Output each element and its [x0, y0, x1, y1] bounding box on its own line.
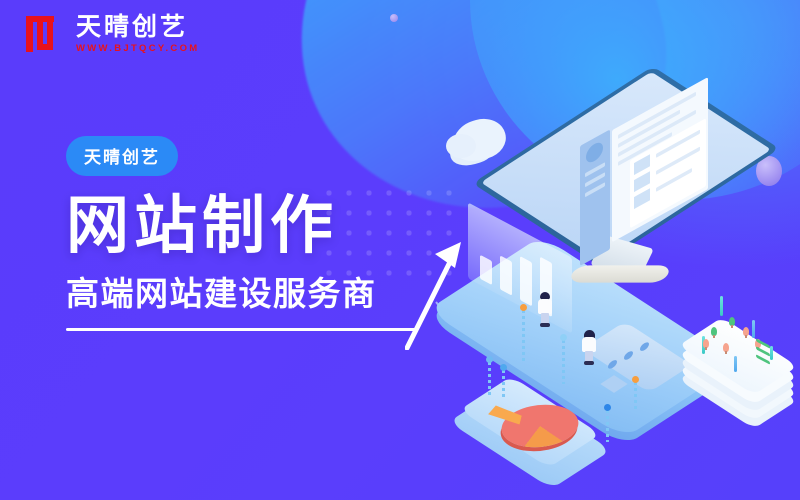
brand-url: WWW.BJTQCY.COM — [76, 43, 200, 54]
tree-icon — [728, 316, 736, 328]
layered-server-stack — [678, 294, 798, 404]
brand-logo[interactable]: 天晴创艺 WWW.BJTQCY.COM — [26, 14, 200, 54]
marker-pin — [522, 310, 525, 362]
stack-rod — [720, 296, 723, 316]
mockup-sidebar — [580, 129, 610, 266]
wall-bar — [520, 256, 532, 306]
stack-rod — [770, 346, 773, 360]
marker-pin — [562, 340, 565, 384]
marketing-banner: 天晴创艺 WWW.BJTQCY.COM 天晴创艺 网站制作 高端网站建设服务商 — [0, 0, 800, 500]
wall-bar — [480, 255, 492, 285]
marker-pin — [502, 370, 505, 398]
tree-icon — [742, 326, 750, 338]
isometric-illustration — [430, 40, 800, 500]
sphere-small-icon — [390, 14, 398, 22]
stack-rod — [752, 320, 755, 338]
stack-rod — [734, 356, 737, 372]
person-standing-left — [538, 292, 552, 326]
marker-pin — [488, 362, 491, 398]
brand-name: 天晴创艺 — [76, 14, 200, 40]
wall-bar — [500, 255, 512, 295]
badge-label: 天晴创艺 — [66, 136, 178, 176]
tree-icon — [710, 326, 718, 338]
logo-text-block: 天晴创艺 WWW.BJTQCY.COM — [76, 14, 200, 54]
tree-icon — [722, 342, 730, 354]
tree-icon — [702, 338, 710, 350]
divider-rule — [66, 328, 418, 331]
marker-pin — [634, 382, 637, 410]
mockup-avatar — [586, 139, 603, 165]
marker-pin — [606, 410, 609, 442]
person-standing-right — [582, 330, 596, 364]
logo-monogram-icon — [26, 14, 66, 54]
